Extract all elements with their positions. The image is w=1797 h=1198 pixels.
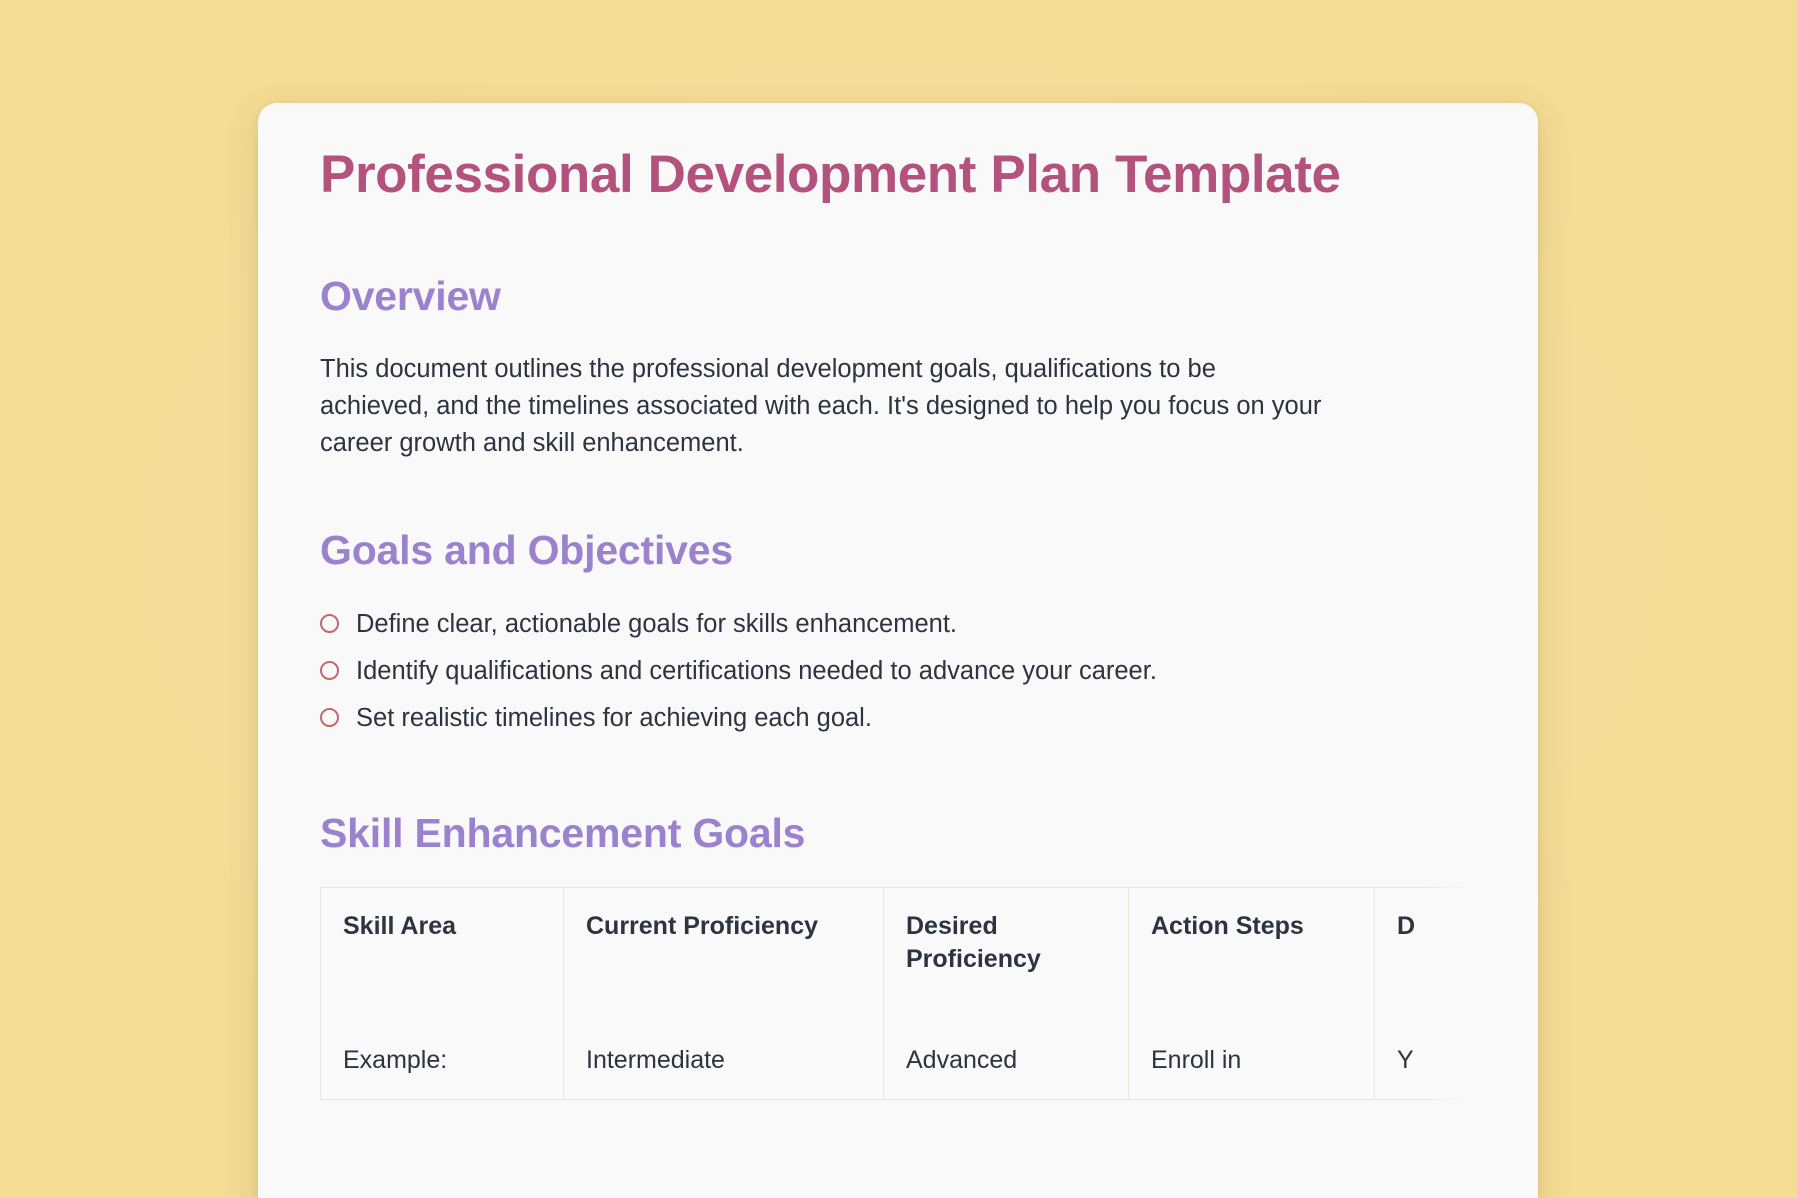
document-card: Professional Development Plan Template O… — [258, 103, 1538, 1198]
cell-action-steps: Enroll in — [1129, 1022, 1375, 1100]
checkbox-circle-icon[interactable] — [320, 614, 339, 633]
checkbox-circle-icon[interactable] — [320, 661, 339, 680]
column-header-action-steps: Action Steps — [1129, 887, 1375, 1022]
skills-table-scroll-container[interactable]: Skill Area Current Proficiency Desired P… — [320, 887, 1484, 1100]
section-heading-goals: Goals and Objectives — [320, 526, 1492, 575]
skills-table-body: Example: Intermediate Advanced Enroll in… — [321, 1022, 1485, 1100]
column-header-desired-proficiency: Desired Proficiency — [884, 887, 1129, 1022]
table-row: Example: Intermediate Advanced Enroll in… — [321, 1022, 1485, 1100]
section-heading-overview: Overview — [320, 272, 1492, 321]
column-header-deadline-clipped: D — [1375, 887, 1485, 1022]
document-card-content: Professional Development Plan Template O… — [258, 103, 1538, 1100]
cell-deadline-clipped: Y — [1375, 1022, 1485, 1100]
section-skill-enhancement-goals: Skill Enhancement Goals Skill Area Curre… — [258, 809, 1538, 1100]
list-item[interactable]: Define clear, actionable goals for skill… — [320, 601, 1492, 648]
skills-table-header: Skill Area Current Proficiency Desired P… — [321, 887, 1485, 1022]
cell-skill-area: Example: — [321, 1022, 564, 1100]
goals-checklist: Define clear, actionable goals for skill… — [320, 576, 1492, 743]
checklist-item-label: Identify qualifications and certificatio… — [356, 654, 1157, 688]
section-overview: Overview This document outlines the prof… — [258, 272, 1538, 462]
checkbox-circle-icon[interactable] — [320, 708, 339, 727]
column-header-skill-area: Skill Area — [321, 887, 564, 1022]
cell-desired-proficiency: Advanced — [884, 1022, 1129, 1100]
column-header-current-proficiency: Current Proficiency — [564, 887, 884, 1022]
skills-table: Skill Area Current Proficiency Desired P… — [320, 887, 1484, 1100]
table-header-row: Skill Area Current Proficiency Desired P… — [321, 887, 1485, 1022]
cell-current-proficiency: Intermediate — [564, 1022, 884, 1100]
page-root: Professional Development Plan Template O… — [0, 0, 1797, 1198]
list-item[interactable]: Identify qualifications and certificatio… — [320, 648, 1492, 695]
checklist-item-label: Define clear, actionable goals for skill… — [356, 607, 957, 641]
checklist-item-label: Set realistic timelines for achieving ea… — [356, 701, 872, 735]
section-heading-skills: Skill Enhancement Goals — [320, 809, 1492, 858]
list-item[interactable]: Set realistic timelines for achieving ea… — [320, 695, 1492, 742]
section-goals-objectives: Goals and Objectives Define clear, actio… — [258, 526, 1538, 742]
overview-paragraph: This document outlines the professional … — [320, 322, 1330, 463]
page-title: Professional Development Plan Template — [258, 103, 1538, 205]
